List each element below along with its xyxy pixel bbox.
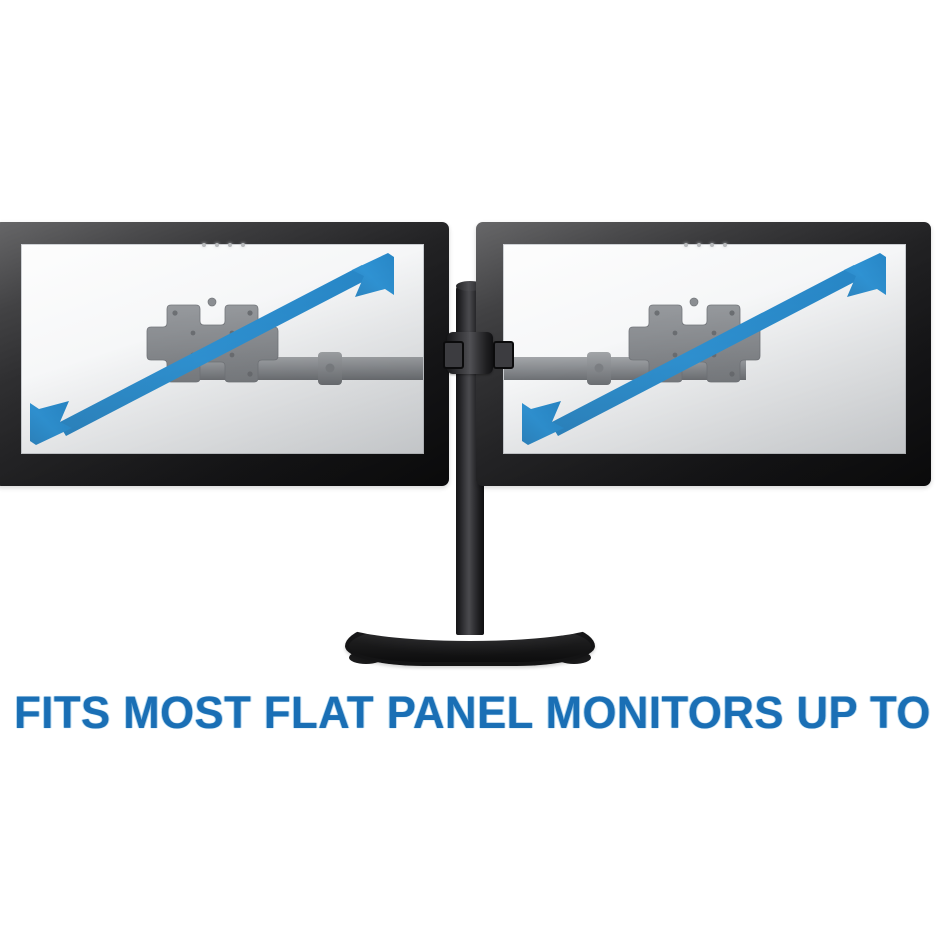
right-monitor-indicator-dots [684, 243, 727, 247]
right-monitor-screen [503, 244, 906, 454]
product-image-stage: FITS MOST FLAT PANEL MONITORS UP TO 32" [0, 0, 940, 940]
left-monitor-indicator-dots [202, 243, 245, 247]
resize-arrow-icon-left [22, 245, 423, 453]
collar-clip-left [443, 341, 464, 369]
collar-clip-right [493, 341, 514, 369]
product-caption: FITS MOST FLAT PANEL MONITORS UP TO 32" [14, 688, 926, 738]
left-monitor [0, 222, 449, 486]
right-monitor [476, 222, 931, 486]
resize-arrow-icon-right [504, 245, 905, 453]
left-monitor-screen [21, 244, 424, 454]
